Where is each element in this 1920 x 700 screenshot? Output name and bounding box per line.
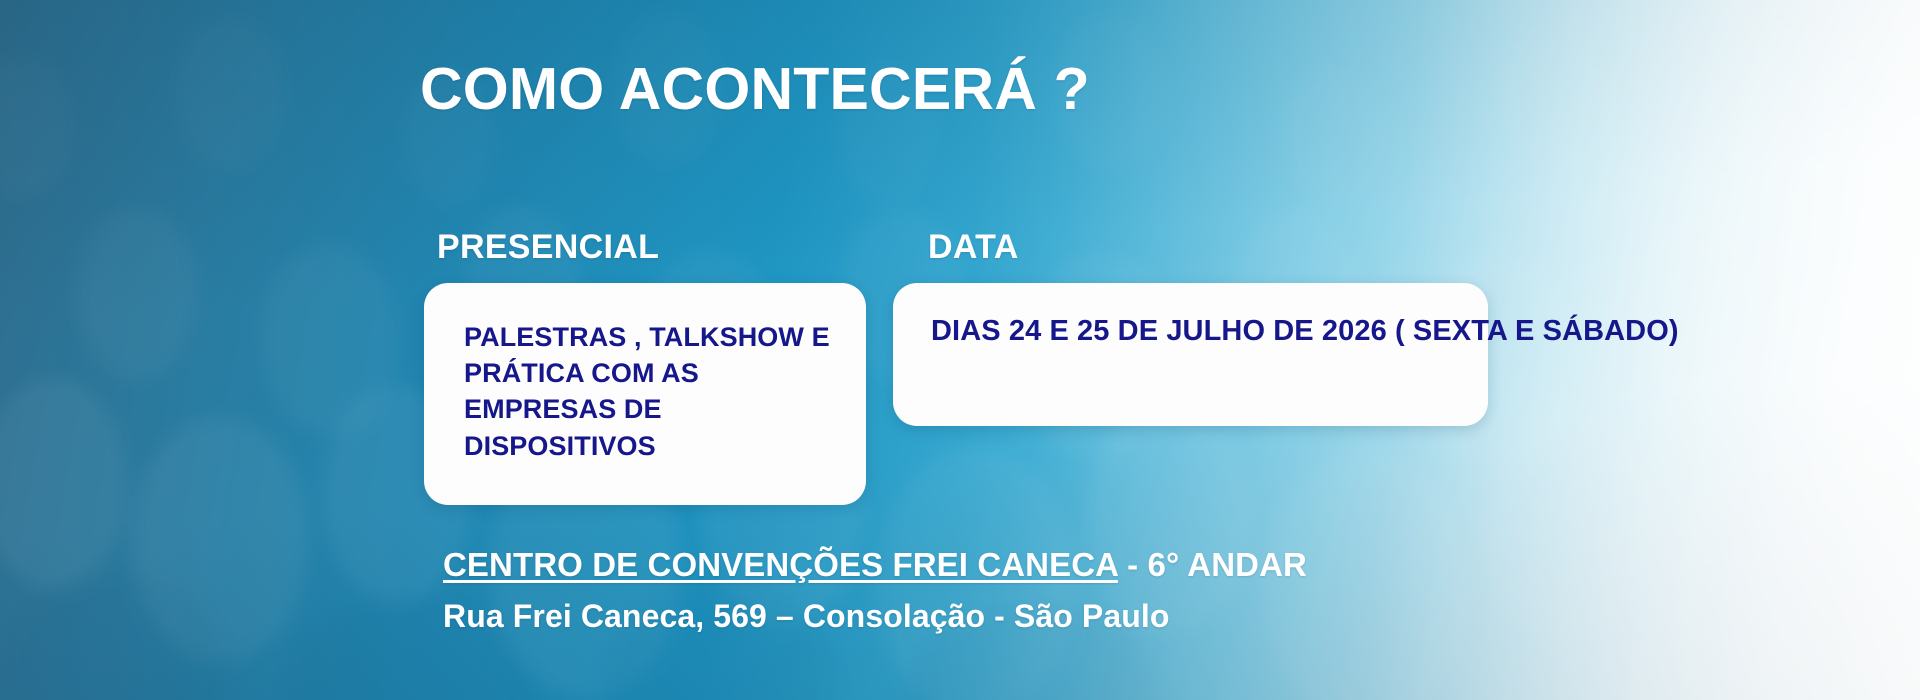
data-card-text: DIAS 24 E 25 DE JULHO DE 2026 ( SEXTA E …: [931, 311, 1462, 352]
presencial-card-text: PALESTRAS , TALKSHOW E PRÁTICA COM AS EM…: [464, 319, 842, 464]
venue-name: CENTRO DE CONVENÇÕES FREI CANECA: [443, 546, 1118, 583]
column-label-presencial: PRESENCIAL: [437, 228, 659, 267]
presencial-card: PALESTRAS , TALKSHOW E PRÁTICA COM AS EM…: [424, 283, 866, 505]
venue-floor: - 6° ANDAR: [1118, 546, 1307, 583]
slide-content: COMO ACONTECERÁ ? PRESENCIAL DATA PALEST…: [0, 0, 1920, 700]
venue-line: CENTRO DE CONVENÇÕES FREI CANECA - 6° AN…: [443, 546, 1307, 584]
venue-address: Rua Frei Caneca, 569 – Consolação - São …: [443, 598, 1170, 635]
column-label-data: DATA: [928, 228, 1019, 267]
page-title: COMO ACONTECERÁ ?: [420, 58, 1090, 122]
slide-canvas: COMO ACONTECERÁ ? PRESENCIAL DATA PALEST…: [0, 0, 1920, 700]
data-card: DIAS 24 E 25 DE JULHO DE 2026 ( SEXTA E …: [893, 283, 1488, 426]
